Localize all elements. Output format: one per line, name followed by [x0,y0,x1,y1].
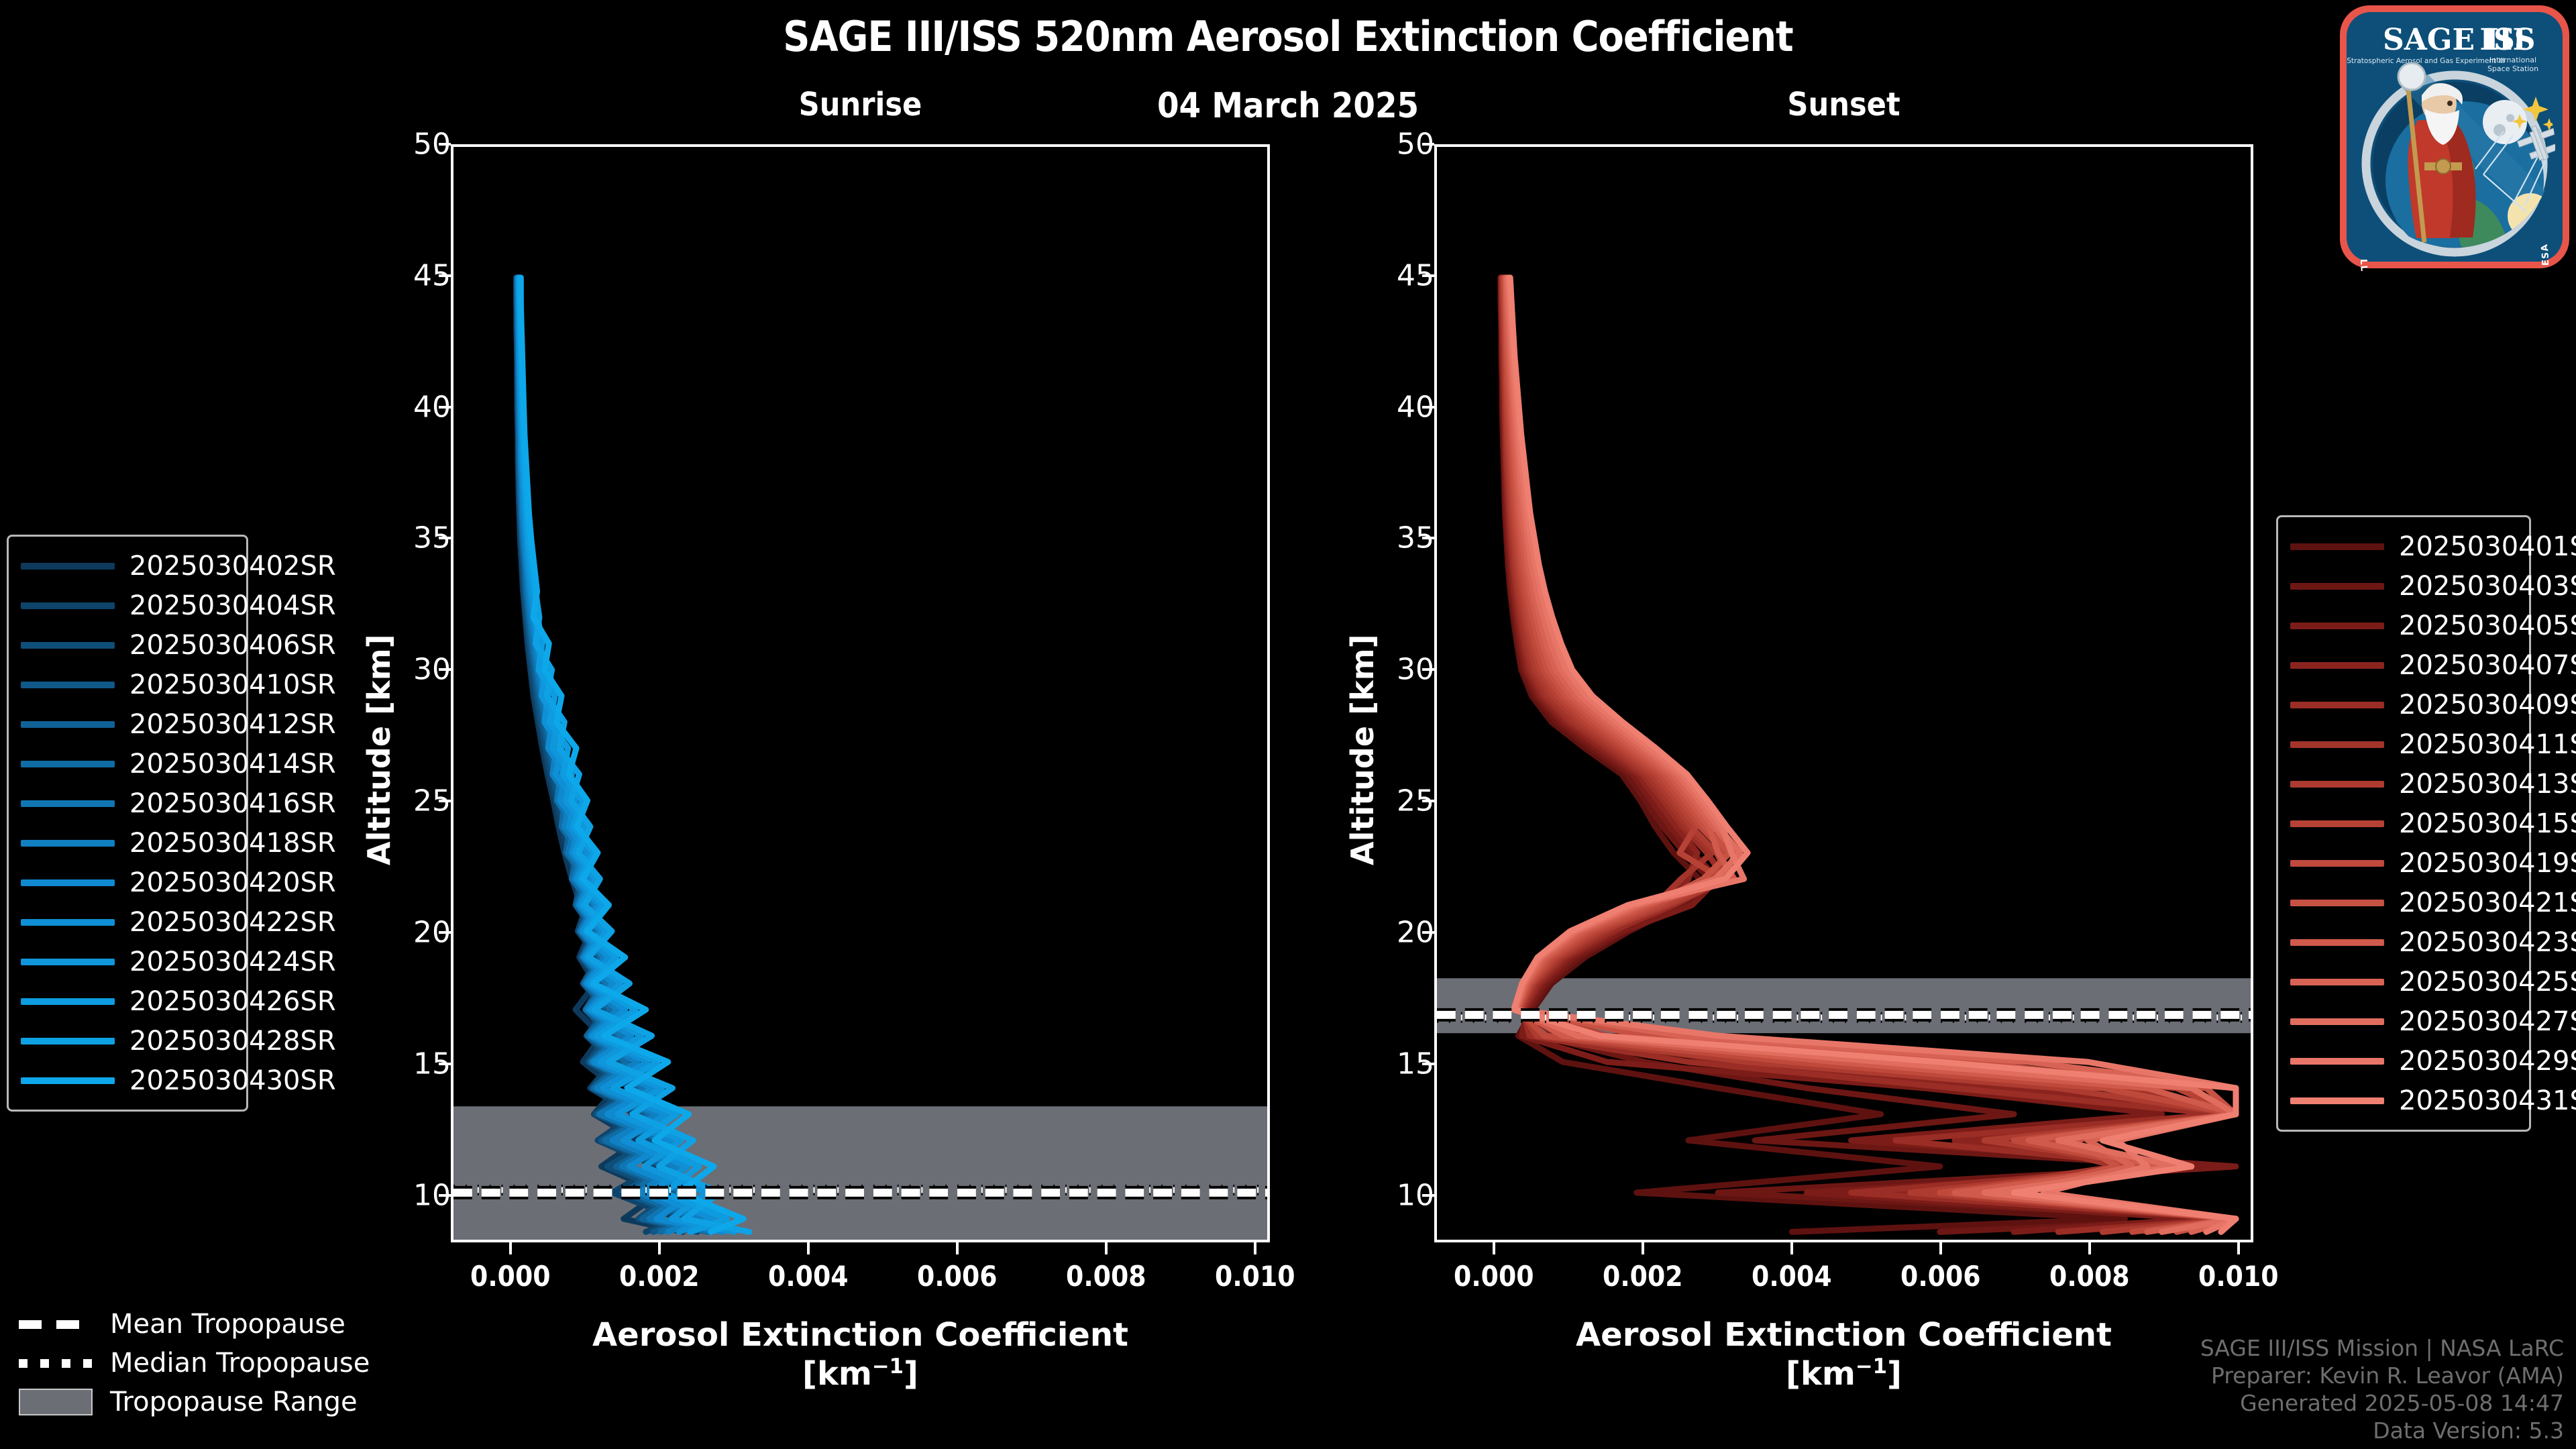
legend-item-tropopause-range: Tropopause Range [19,1383,368,1421]
sunset-plot-canvas [1437,147,2251,1240]
legend-item[interactable]: 2025030427SS [2290,1002,2517,1041]
y-axis-label-sunrise: Altitude [km] [361,634,397,865]
legend-item[interactable]: 2025030414SR [21,744,234,784]
y-axis-tick-mark [1422,1194,1434,1197]
logo-title-dot: · [2482,28,2490,54]
x-axis-tick-mark [1105,1242,1108,1254]
legend-label: 2025030406SR [129,630,336,661]
x-axis-tick-mark [1254,1242,1256,1254]
logo-subtitle-right-1: International [2489,56,2536,64]
legend-line-icon [21,840,115,847]
legend-item[interactable]: 2025030423SS [2290,922,2517,962]
legend-label: 2025030402SR [129,551,336,582]
legend-line-icon [21,879,115,886]
legend-line-icon [21,800,115,807]
y-axis-tick-mark [1422,143,1434,146]
sunset-plot-panel [1434,144,2253,1242]
x-axis-label-sunset: Aerosol Extinction Coefficient [km−1] [1434,1316,2253,1393]
x-axis-tick-label: 0.000 [1454,1260,1534,1293]
legend-label: 2025030410SR [129,669,336,700]
legend-line-icon [2290,900,2384,906]
legend-label: 2025030421SS [2399,888,2576,918]
x-axis-tick-mark [1939,1242,1942,1254]
x-axis-tick-label: 0.006 [1900,1260,1981,1293]
legend-item[interactable]: 2025030422SR [21,902,234,942]
legend-item[interactable]: 2025030406SR [21,625,234,665]
x-axis-tick-label: 0.004 [768,1260,849,1293]
mean-tropopause-dash-icon [19,1316,93,1333]
tropopause-range-band [453,1106,1267,1240]
x-axis-tick-mark [2237,1242,2240,1254]
y-axis-tick-mark [439,143,451,146]
legend-item[interactable]: 2025030405SS [2290,606,2517,645]
legend-line-icon [21,602,115,609]
x-axis-label-sunrise: Aerosol Extinction Coefficient [km−1] [451,1316,1270,1393]
legend-item[interactable]: 2025030416SR [21,784,234,823]
legend-label: 2025030423SS [2399,927,2576,958]
y-axis-tick-mark [1422,406,1434,409]
legend-line-icon [2290,623,2384,629]
x-axis-tick-mark [807,1242,810,1254]
x-axis-tick-mark [1493,1242,1495,1254]
legend-item[interactable]: 2025030419SS [2290,843,2517,883]
legend-item[interactable]: 2025030411SS [2290,724,2517,764]
x-axis-tick-label: 0.010 [1215,1260,1295,1293]
legend-line-icon [2290,979,2384,985]
legend-label: 2025030429SS [2399,1046,2576,1077]
y-axis-tick-mark [439,800,451,802]
y-axis-label-sunset: Altitude [km] [1344,634,1381,865]
legend-label: 2025030428SR [129,1026,336,1057]
x-axis-tick-mark [509,1242,512,1254]
legend-line-icon [21,1077,115,1084]
y-axis-tick-mark [1422,537,1434,539]
legend-label: 2025030411SS [2399,729,2576,760]
x-axis-tick-label: 0.006 [917,1260,998,1293]
legend-label: 2025030404SR [129,590,336,621]
sunrise-plot-panel [451,144,1270,1242]
legend-item[interactable]: 2025030425SS [2290,962,2517,1002]
legend-label: 2025030424SR [129,947,336,977]
y-axis-tick-mark [1422,668,1434,671]
legend-item[interactable]: 2025030409SS [2290,685,2517,724]
legend-label: 2025030405SS [2399,610,2576,641]
legend-tropopause: Mean Tropopause Median Tropopause Tropop… [19,1305,368,1421]
legend-line-icon [2290,1058,2384,1065]
x-axis-unit: [km−1] [1434,1354,2253,1393]
y-axis-tick-mark [439,1194,451,1197]
x-axis-label-text: Aerosol Extinction Coefficient [451,1316,1270,1354]
y-axis-tick-mark [1422,1063,1434,1065]
footer-line-mission: SAGE III/ISS Mission | NASA LaRC [2200,1335,2564,1362]
tropopause-range-swatch-icon [19,1393,93,1411]
legend-item[interactable]: 2025030426SR [21,981,234,1021]
legend-item-mean-tropopause: Mean Tropopause [19,1305,368,1344]
legend-item[interactable]: 2025030430SR [21,1061,234,1100]
logo-subtitle-left: Stratospheric Aerosol and Gas Experiment… [2347,57,2505,65]
y-axis-tick-mark [439,406,451,409]
legend-line-icon [2290,939,2384,946]
legend-label: 2025030416SR [129,788,336,819]
y-axis-tick-mark [1422,931,1434,934]
legend-label: 2025030412SR [129,709,336,740]
legend-line-icon [21,1038,115,1044]
y-axis-tick-mark [439,274,451,277]
legend-line-icon [21,563,115,570]
legend-label: 2025030403SS [2399,571,2576,602]
legend-line-icon [21,682,115,688]
legend-label-mean-tropopause: Mean Tropopause [110,1309,345,1340]
legend-line-icon [21,998,115,1005]
sage-iii-iss-logo: SAGE III ISS · Stratospheric Aerosol and… [2337,3,2572,271]
legend-label: 2025030419SS [2399,848,2576,879]
legend-item[interactable]: 2025030415SS [2290,804,2517,843]
legend-line-icon [2290,583,2384,590]
x-axis-tick-label: 0.000 [470,1260,551,1293]
legend-label: 2025030409SS [2399,690,2576,720]
y-axis-tick-mark [439,931,451,934]
legend-line-icon [2290,860,2384,867]
legend-line-icon [2290,702,2384,708]
footer-line-preparer: Preparer: Kevin R. Leavor (AMA) [2200,1362,2564,1390]
x-axis-tick-label: 0.002 [1603,1260,1683,1293]
legend-label-tropopause-range: Tropopause Range [110,1387,358,1417]
legend-label: 2025030415SS [2399,808,2576,839]
legend-line-icon [2290,662,2384,669]
x-axis-tick-label: 0.002 [619,1260,700,1293]
x-axis-tick-label: 0.004 [1752,1260,1832,1293]
sunrise-panel-title: Sunrise [451,86,1270,123]
legend-item[interactable]: 2025030424SR [21,942,234,981]
legend-label: 2025030414SR [129,749,336,780]
logo-subtitle-right-2: Space Station [2487,64,2538,73]
legend-item[interactable]: 2025030428SR [21,1021,234,1061]
x-axis-tick-label: 0.010 [2198,1260,2279,1293]
legend-label: 2025030413SS [2399,769,2576,800]
legend-sunrise[interactable]: 2025030402SR2025030404SR2025030406SR2025… [7,535,248,1112]
x-axis-tick-label: 0.008 [2049,1260,2130,1293]
y-axis-tick-mark [1422,800,1434,802]
legend-line-icon [2290,781,2384,788]
median-tropopause-dot-icon [19,1354,93,1372]
legend-label: 2025030420SR [129,867,336,898]
legend-label: 2025030431SS [2399,1085,2576,1116]
y-axis-tick-mark [1422,274,1434,277]
legend-line-icon [2290,543,2384,550]
legend-line-icon [2290,1097,2384,1104]
legend-line-icon [21,721,115,728]
legend-line-icon [2290,741,2384,748]
legend-label: 2025030407SS [2399,650,2576,681]
y-axis-tick-mark [439,1063,451,1065]
legend-line-icon [21,642,115,649]
legend-line-icon [2290,1018,2384,1025]
legend-label: 2025030401SS [2399,531,2576,562]
footer-line-dataversion: Data Version: 5.3 [2200,1417,2564,1445]
y-axis-tick-mark [439,668,451,671]
legend-label: 2025030427SS [2399,1006,2576,1037]
page-title: SAGE III/ISS 520nm Aerosol Extinction Co… [0,12,2576,61]
legend-item[interactable]: 2025030429SS [2290,1041,2517,1081]
legend-item[interactable]: 2025030403SS [2290,566,2517,606]
legend-item[interactable]: 2025030410SR [21,665,234,704]
legend-label: 2025030418SR [129,828,336,859]
legend-line-icon [21,761,115,767]
legend-item[interactable]: 2025030402SR [21,546,234,586]
legend-label: 2025030425SS [2399,967,2576,998]
legend-item[interactable]: 2025030418SR [21,823,234,863]
legend-label: 2025030426SR [129,986,336,1017]
legend-item[interactable]: 2025030431SS [2290,1081,2517,1120]
footer-credits: SAGE III/ISS Mission | NASA LaRC Prepare… [2200,1335,2564,1445]
x-axis-tick-mark [1642,1242,1644,1254]
footer-line-generated: Generated 2025-05-08 14:47 [2200,1390,2564,1417]
legend-label: 2025030422SR [129,907,336,938]
sunrise-plot-canvas [453,147,1267,1240]
sunset-panel-title: Sunset [1434,86,2253,123]
x-axis-tick-mark [658,1242,661,1254]
x-axis-tick-label: 0.008 [1066,1260,1146,1293]
legend-line-icon [2290,820,2384,827]
y-axis-tick-mark [439,537,451,539]
legend-item[interactable]: 2025030412SR [21,704,234,744]
x-axis-label-text: Aerosol Extinction Coefficient [1434,1316,2253,1354]
legend-item[interactable]: 2025030404SR [21,586,234,625]
x-axis-tick-mark [1790,1242,1793,1254]
legend-item-median-tropopause: Median Tropopause [19,1344,368,1383]
legend-label-median-tropopause: Median Tropopause [110,1348,370,1379]
x-axis-unit: [km−1] [451,1354,1270,1393]
legend-sunset[interactable]: 2025030401SS2025030403SS2025030405SS2025… [2276,515,2531,1132]
legend-item[interactable]: 2025030401SS [2290,527,2517,566]
legend-line-icon [21,959,115,965]
legend-line-icon [21,919,115,926]
legend-label: 2025030430SR [129,1065,336,1096]
x-axis-tick-mark [2088,1242,2091,1254]
legend-item[interactable]: 2025030421SS [2290,883,2517,922]
legend-item[interactable]: 2025030413SS [2290,764,2517,804]
legend-item[interactable]: 2025030407SS [2290,645,2517,685]
x-axis-tick-mark [956,1242,959,1254]
legend-item[interactable]: 2025030420SR [21,863,234,902]
